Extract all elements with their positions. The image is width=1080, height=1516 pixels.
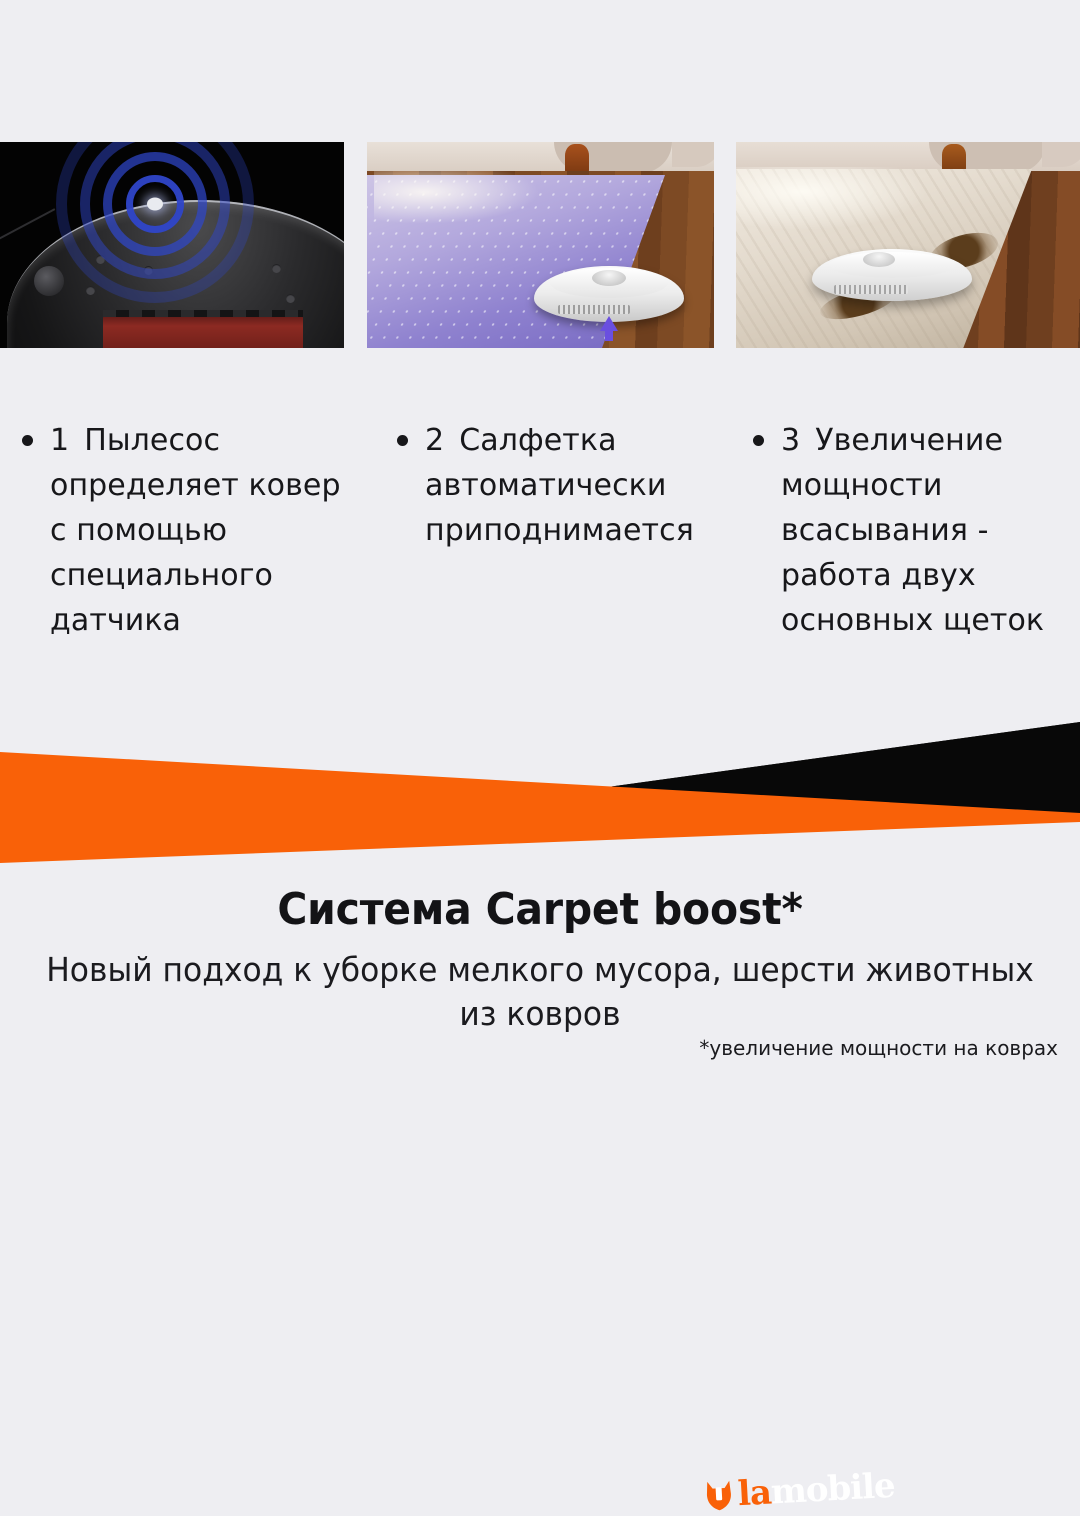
carpet-sensor-icon	[147, 197, 163, 210]
feature-list: 1Пылесос определяет ковер с помощью спец…	[0, 418, 1080, 688]
mop-lift-arrow-icon	[600, 316, 618, 331]
brand-banner: lamobile	[0, 700, 1080, 890]
feature-2-text: 2Салфетка автоматически приподнимается	[425, 418, 727, 553]
page-subtitle: Новый подход к уборке мелкого мусора, ше…	[27, 948, 1053, 1036]
lidar-turret-icon	[863, 252, 895, 267]
photo3-pet	[942, 144, 966, 171]
infographic-slide: 1Пылесос определяет ковер с помощью спец…	[0, 0, 1080, 1080]
photo3-robot-vacuum	[812, 249, 972, 301]
brand-logo-la: la	[737, 1473, 772, 1515]
feature-3-text: 3Увеличение мощности всасывания - работа…	[781, 418, 1075, 643]
footnote: *увеличение мощности на коврах	[699, 1036, 1058, 1060]
gallery-image-carpet-sensor-closeup	[0, 142, 344, 348]
brand-logo[interactable]: lamobile	[705, 1469, 895, 1513]
photo2-furniture-right	[672, 142, 714, 167]
bullet-icon	[753, 435, 764, 446]
photo2-light-glow	[374, 171, 541, 225]
feature-item-1: 1Пылесос определяет ковер с помощью спец…	[22, 418, 362, 643]
banner-shapes	[0, 700, 1080, 890]
feature-1-body: Пылесос определяет ковер с помощью специ…	[50, 423, 341, 638]
feature-1-text: 1Пылесос определяет ковер с помощью спец…	[50, 418, 362, 643]
gallery-image-mop-lifting-on-carpet	[367, 142, 714, 348]
photo3-robot-vent	[834, 285, 908, 294]
bullet-icon	[22, 435, 33, 446]
feature-2-number: 2	[425, 423, 444, 458]
main-brush-bar	[103, 315, 303, 348]
page-title: Система Carpet boost*	[38, 884, 1042, 935]
screw-icon	[286, 294, 295, 303]
gallery-image-suction-boost-on-carpet	[736, 142, 1080, 348]
feature-1-number: 1	[50, 423, 69, 458]
photo2-pet	[565, 144, 589, 173]
screw-icon	[272, 264, 281, 273]
feature-3-body: Увеличение мощности всасывания - работа …	[781, 423, 1044, 638]
feature-item-3: 3Увеличение мощности всасывания - работа…	[753, 418, 1075, 643]
lidar-turret-icon	[592, 270, 626, 286]
feature-item-2: 2Салфетка автоматически приподнимается	[397, 418, 727, 553]
photo-gallery	[0, 142, 1080, 348]
brand-logo-text: lamobile	[737, 1469, 895, 1511]
photo3-light-glow	[736, 167, 925, 229]
photo2-robot-vent	[558, 305, 630, 314]
brand-logo-mobile: mobile	[770, 1466, 896, 1513]
mop-lift-arrow-stem	[605, 330, 613, 341]
photo3-furniture-right	[1042, 142, 1080, 167]
bullet-icon	[397, 435, 408, 446]
robot-wheel	[34, 266, 64, 296]
lamobile-bear-shield-icon	[705, 1479, 733, 1511]
feature-3-number: 3	[781, 423, 800, 458]
feature-2-body: Салфетка автоматически приподнимается	[425, 423, 694, 548]
